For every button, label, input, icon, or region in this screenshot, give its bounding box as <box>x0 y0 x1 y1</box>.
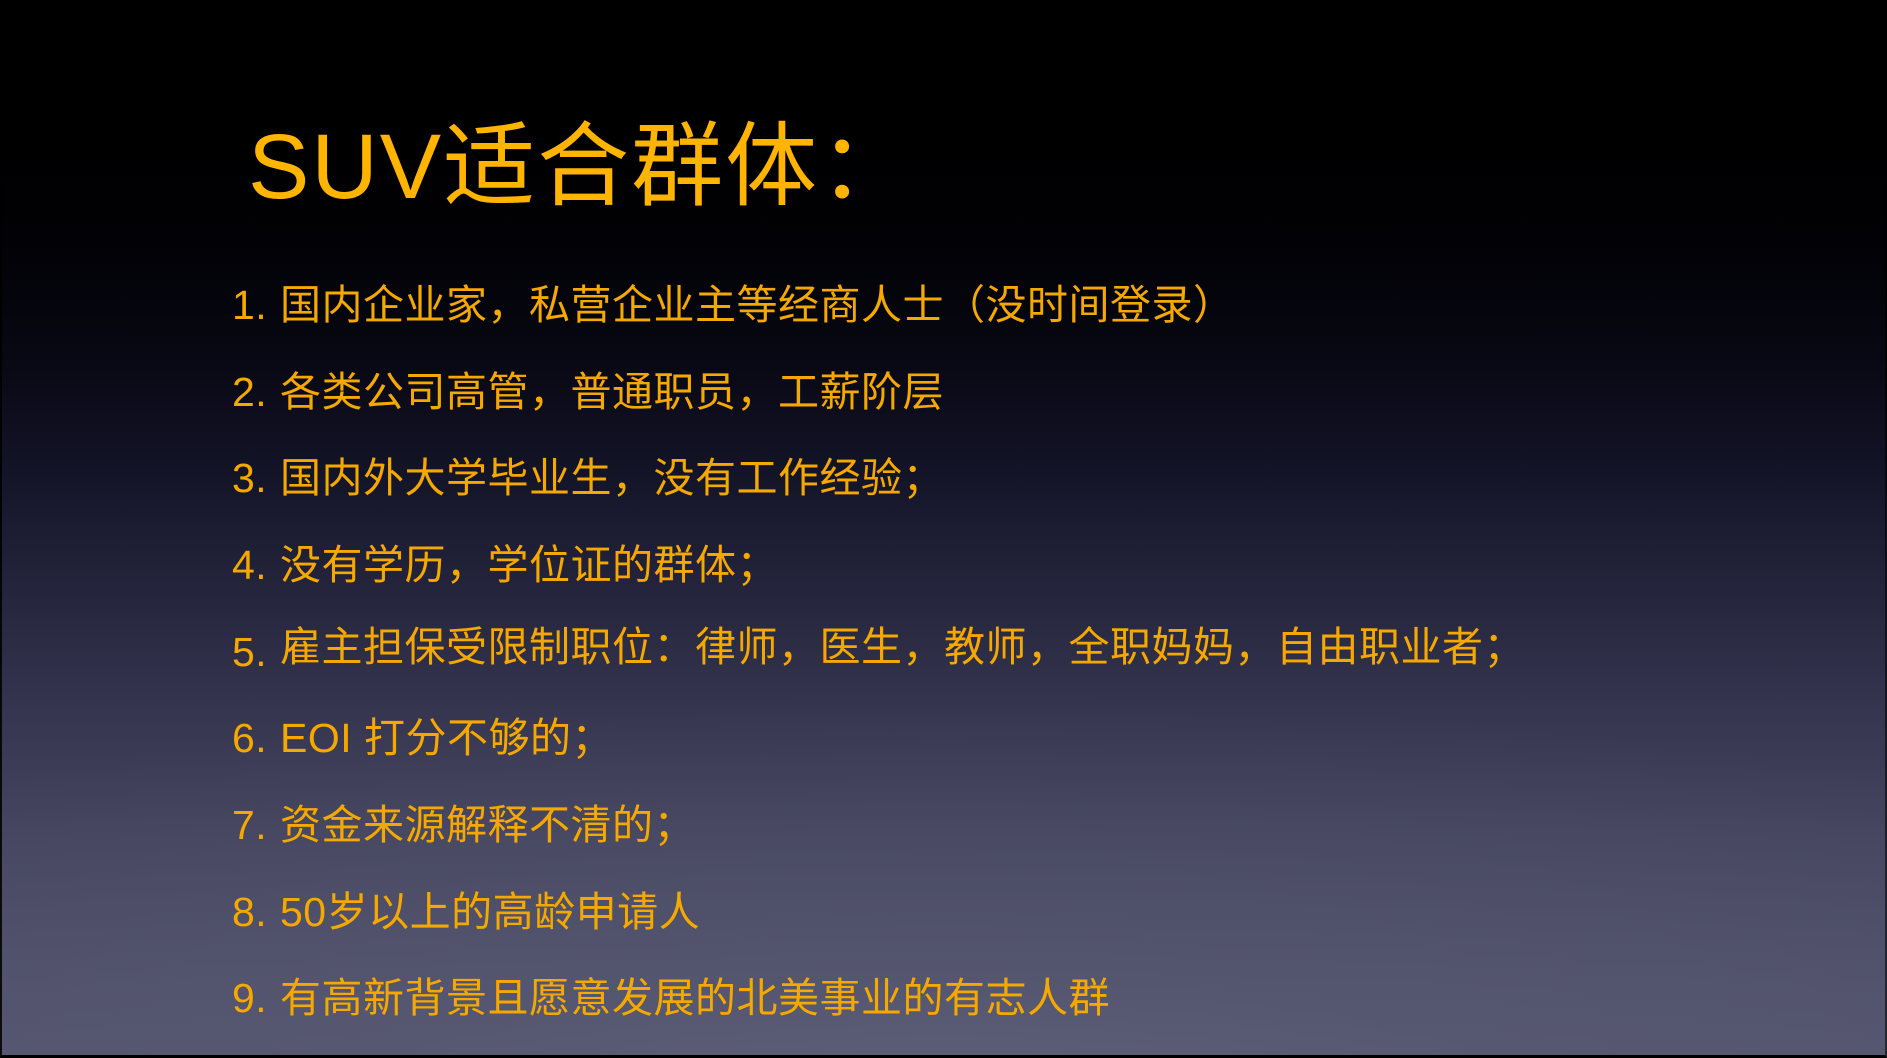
list-item-marker: 2. <box>232 362 280 423</box>
list-item-text: 资金来源解释不清的； <box>280 795 1662 856</box>
list-item-text: 国内外大学毕业生，没有工作经验； <box>280 448 1662 509</box>
list-item-marker: 8. <box>232 882 280 943</box>
list-item-marker: 7. <box>232 795 280 856</box>
list-item-text: 没有学历，学位证的群体； <box>280 535 1662 596</box>
list-item-marker: 3. <box>232 448 280 509</box>
list-item-marker: 6. <box>232 708 280 769</box>
list-item: 5. 雇主担保受限制职位：律师，医生，教师，全职妈妈，自由职业者； <box>232 622 1662 683</box>
list-item-marker: 1. <box>232 275 280 336</box>
list-item-text: 国内企业家，私营企业主等经商人士（没时间登录） <box>280 275 1662 336</box>
list-item: 7. 资金来源解释不清的； <box>232 795 1662 856</box>
list-item: 4. 没有学历，学位证的群体； <box>232 535 1662 596</box>
list-item: 9. 有高新背景且愿意发展的北美事业的有志人群 <box>232 968 1662 1029</box>
list-item-text: 雇主担保受限制职位：律师，医生，教师，全职妈妈，自由职业者； <box>280 622 1662 672</box>
list-item-marker: 5. <box>232 622 280 683</box>
list-item-marker: 9. <box>232 968 280 1029</box>
list-item-text: 有高新背景且愿意发展的北美事业的有志人群 <box>280 968 1662 1029</box>
list-item: 8. 50岁以上的高龄申请人 <box>232 882 1662 943</box>
bullet-list: 1. 国内企业家，私营企业主等经商人士（没时间登录） 2. 各类公司高管，普通职… <box>232 275 1662 1029</box>
list-item: 6. EOI 打分不够的； <box>232 708 1662 769</box>
presentation-slide: SUV适合群体： 1. 国内企业家，私营企业主等经商人士（没时间登录） 2. 各… <box>0 0 1887 1058</box>
page-title: SUV适合群体： <box>248 118 913 217</box>
list-item: 2. 各类公司高管，普通职员，工薪阶层 <box>232 362 1662 423</box>
list-item: 3. 国内外大学毕业生，没有工作经验； <box>232 448 1662 509</box>
list-item-text: EOI 打分不够的； <box>280 708 1662 769</box>
list-item-text: 各类公司高管，普通职员，工薪阶层 <box>280 362 1662 423</box>
list-item-marker: 4. <box>232 535 280 596</box>
list-item: 1. 国内企业家，私营企业主等经商人士（没时间登录） <box>232 275 1662 336</box>
list-item-text: 50岁以上的高龄申请人 <box>280 882 1662 943</box>
